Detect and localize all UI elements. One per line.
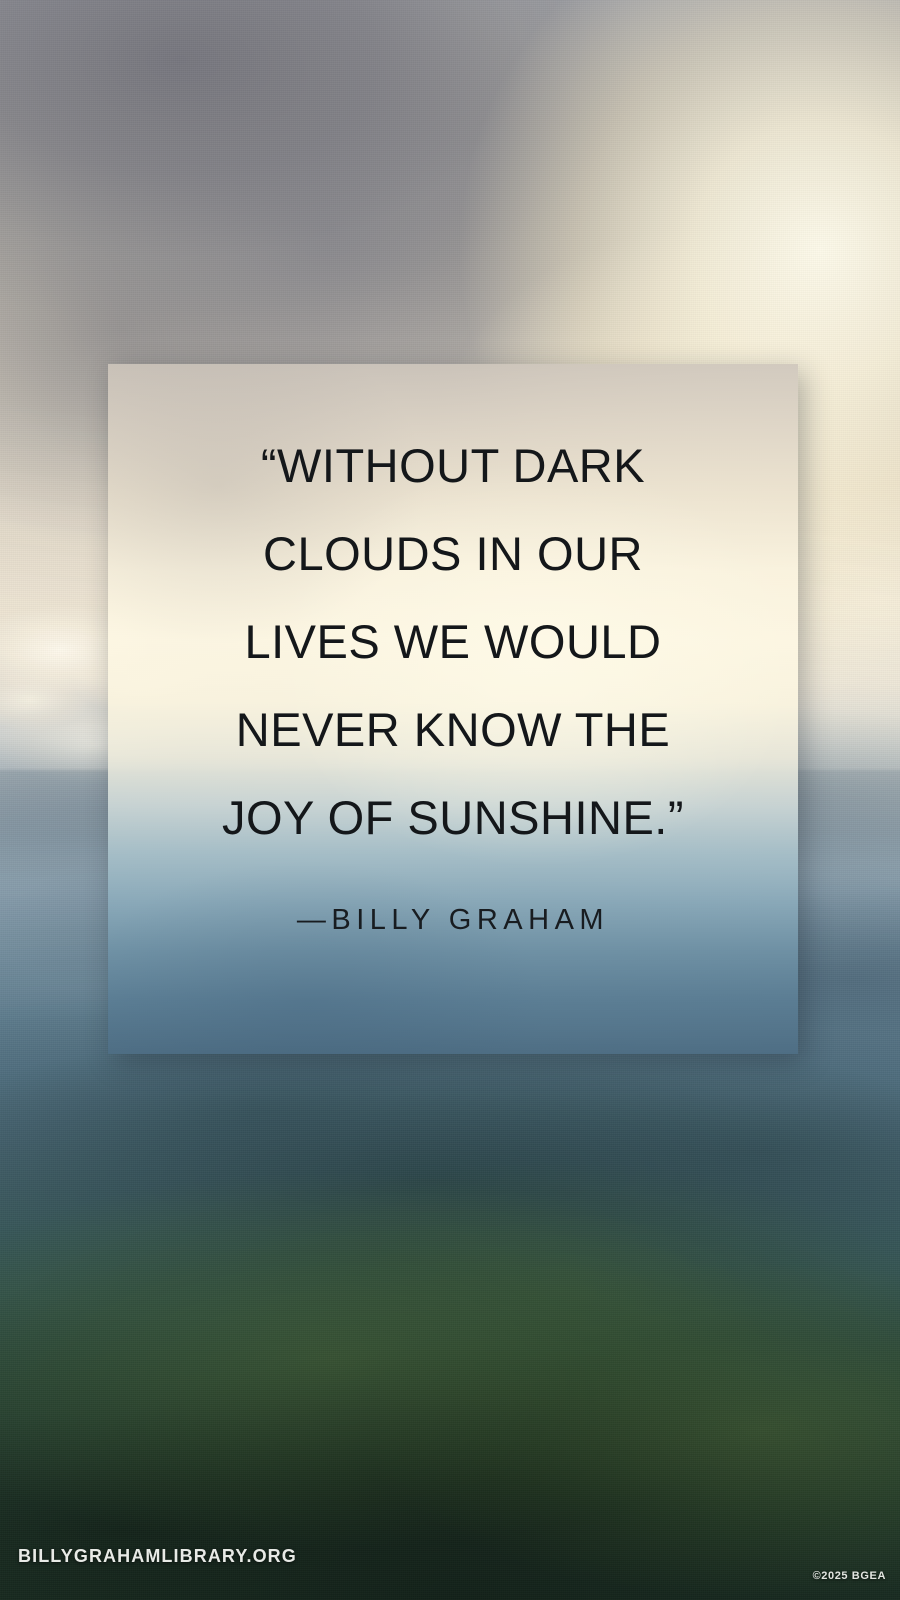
quote-card: “WITHOUT DARK CLOUDS IN OUR LIVES WE WOU… <box>108 364 798 1054</box>
site-url-label: BILLYGRAHAMLIBRARY.ORG <box>18 1546 297 1567</box>
quote-line: LIVES WE WOULD <box>152 598 754 686</box>
quote-text: “WITHOUT DARK CLOUDS IN OUR LIVES WE WOU… <box>152 422 754 862</box>
copyright-label: ©2025 BGEA <box>813 1570 886 1582</box>
quote-line: CLOUDS IN OUR <box>152 510 754 598</box>
quote-line: NEVER KNOW THE <box>152 686 754 774</box>
quote-line: JOY OF SUNSHINE.” <box>152 774 754 862</box>
quote-line: “WITHOUT DARK <box>152 422 754 510</box>
quote-attribution: —BILLY GRAHAM <box>152 904 754 937</box>
quote-poster: “WITHOUT DARK CLOUDS IN OUR LIVES WE WOU… <box>0 0 900 1600</box>
